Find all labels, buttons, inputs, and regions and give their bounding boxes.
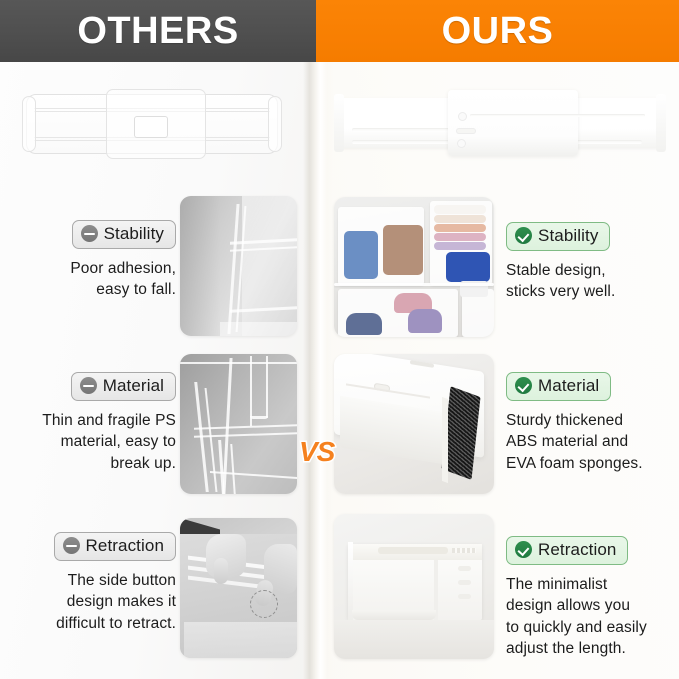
vs-badge-stability: VS xyxy=(299,438,334,466)
minus-circle-icon xyxy=(80,377,97,394)
others-text-stability: Stability Poor adhesion, easy to fall. xyxy=(14,220,176,301)
comparison-infographic: OTHERS OURS xyxy=(0,0,679,679)
ours-badge-stability: Stability xyxy=(506,222,610,251)
ours-badge-material: Material xyxy=(506,372,611,401)
hero-product-strip xyxy=(0,62,679,190)
others-desc-material: Thin and fragile PS material, easy to br… xyxy=(14,410,176,474)
comparison-row-stability: Stability Poor adhesion, easy to fall. V… xyxy=(0,190,679,345)
ours-desc-stability: Stable design, sticks very well. xyxy=(506,260,678,303)
ours-text-material: Material Sturdy thickened ABS material a… xyxy=(506,372,679,474)
ours-image-retraction xyxy=(334,514,494,659)
others-image-retraction xyxy=(180,518,297,658)
header-ours-label: OURS xyxy=(442,12,554,50)
others-desc-retraction: The side button design makes it difficul… xyxy=(10,570,176,634)
minus-circle-icon xyxy=(81,225,98,242)
comparison-row-retraction: Retraction The side button design makes … xyxy=(0,510,679,670)
check-circle-icon xyxy=(515,377,532,394)
check-circle-icon xyxy=(515,541,532,558)
ours-badge-retraction: Retraction xyxy=(506,536,628,565)
others-badge-stability: Stability xyxy=(72,220,176,249)
white-divider-illustration xyxy=(340,90,660,156)
ours-image-material xyxy=(334,354,494,494)
ours-image-stability xyxy=(334,197,494,337)
hero-others xyxy=(0,62,316,190)
ours-desc-retraction: The minimalist design allows you to quic… xyxy=(506,574,679,660)
check-circle-icon xyxy=(515,227,532,244)
others-text-material: Material Thin and fragile PS material, e… xyxy=(14,372,176,474)
hero-ours xyxy=(316,62,679,190)
header-others: OTHERS xyxy=(0,0,316,62)
ours-desc-material: Sturdy thickened ABS material and EVA fo… xyxy=(506,410,679,474)
ours-text-stability: Stability Stable design, sticks very wel… xyxy=(506,222,678,303)
minus-circle-icon xyxy=(63,537,80,554)
header-others-label: OTHERS xyxy=(77,12,238,50)
ours-text-retraction: Retraction The minimalist design allows … xyxy=(506,536,679,659)
header-ours: OURS xyxy=(316,0,679,62)
transparent-divider-illustration xyxy=(26,94,278,154)
others-badge-retraction: Retraction xyxy=(54,532,176,561)
others-image-material xyxy=(180,354,297,494)
others-text-retraction: Retraction The side button design makes … xyxy=(10,532,176,634)
others-image-stability xyxy=(180,196,297,336)
others-badge-material: Material xyxy=(71,372,176,401)
header: OTHERS OURS xyxy=(0,0,679,62)
others-desc-stability: Poor adhesion, easy to fall. xyxy=(14,258,176,301)
comparison-row-material: Material Thin and fragile PS material, e… xyxy=(0,350,679,505)
